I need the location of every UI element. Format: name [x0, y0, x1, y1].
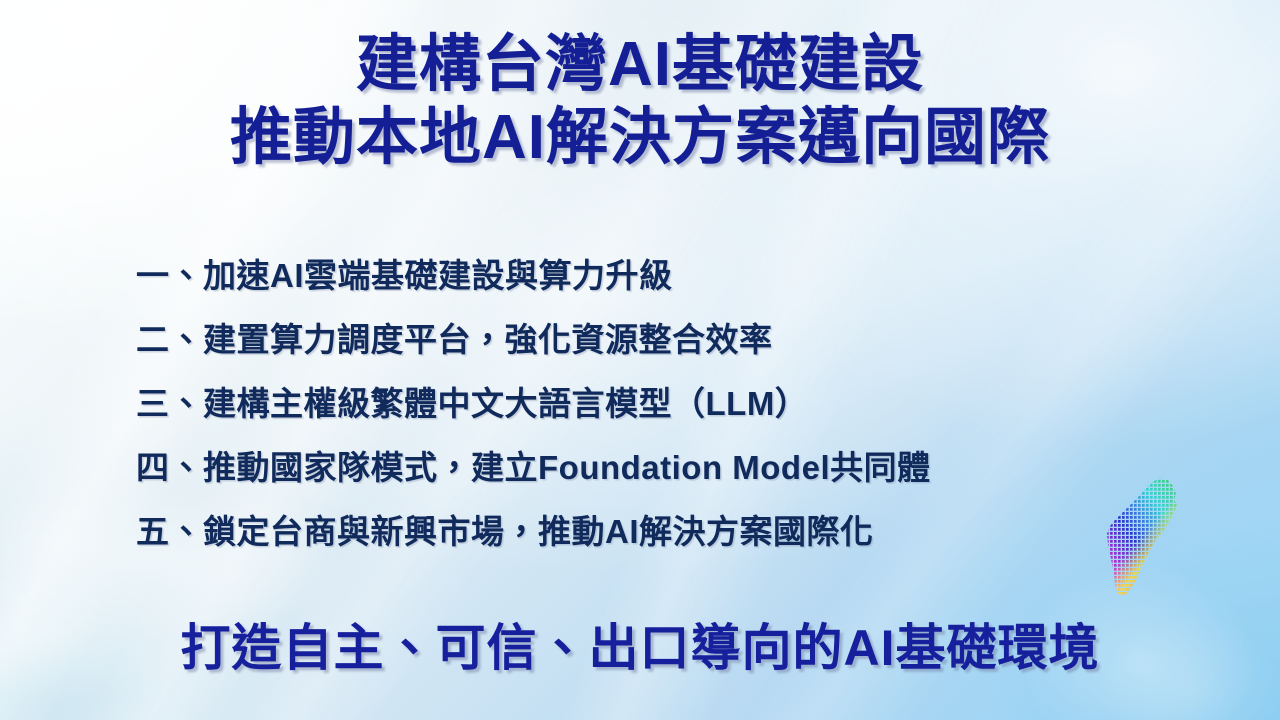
title-line-1: 建構台灣AI基礎建設: [0, 28, 1280, 101]
list-item-2: 二、建置算力調度平台，強化資源整合效率: [136, 307, 1196, 371]
presentation-slide: 建構台灣AI基礎建設 推動本地AI解決方案邁向國際 一、加速AI雲端基礎建設與算…: [0, 0, 1280, 720]
slide-title: 建構台灣AI基礎建設 推動本地AI解決方案邁向國際: [0, 28, 1280, 174]
footer-slogan: 打造自主、可信、出口導向的AI基礎環境: [0, 608, 1280, 680]
slide-content: 建構台灣AI基礎建設 推動本地AI解決方案邁向國際 一、加速AI雲端基礎建設與算…: [0, 0, 1280, 720]
numbered-list: 一、加速AI雲端基礎建設與算力升級 二、建置算力調度平台，強化資源整合效率 三、…: [136, 243, 1196, 563]
list-item-4: 四、推動國家隊模式，建立Foundation Model共同體: [136, 435, 1196, 499]
list-item-1: 一、加速AI雲端基礎建設與算力升級: [136, 243, 1196, 307]
list-item-5: 五、鎖定台商與新興市場，推動AI解決方案國際化: [136, 499, 1196, 563]
title-line-2: 推動本地AI解決方案邁向國際: [0, 101, 1280, 174]
list-item-3: 三、建構主權級繁體中文大語言模型（LLM）: [136, 371, 1196, 435]
taiwan-map-icon: [1098, 476, 1194, 604]
slide-footer: 打造自主、可信、出口導向的AI基礎環境: [0, 608, 1280, 680]
